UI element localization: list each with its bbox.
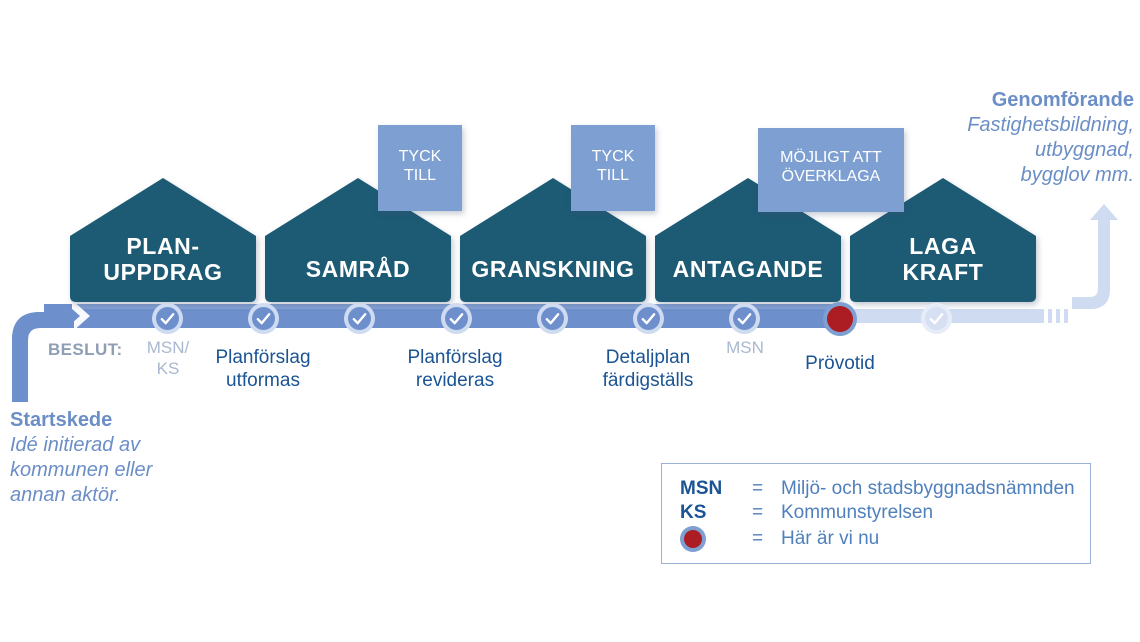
timeline-node-check-7[interactable]: [729, 303, 760, 334]
speech-bubble-tyck-till-samrad[interactable]: TYCK TILL: [378, 125, 462, 211]
stage-label-line1: SAMRÅD: [306, 256, 411, 282]
genomforande-line2: utbyggnad,: [967, 138, 1134, 163]
bubble-line2: TILL: [597, 167, 629, 184]
legend-box: MSN = Miljö- och stadsbyggnadsnämnden KS…: [661, 463, 1091, 564]
bubble-line2: ÖVERKLAGA: [782, 168, 881, 185]
timeline-dash: [1064, 309, 1068, 323]
caption-line1: Planförslag: [180, 346, 346, 369]
startskede-title: Startskede: [10, 408, 152, 433]
stage-label-line1: PLAN-: [103, 233, 222, 259]
caption-provotid: Prövotid: [766, 352, 914, 375]
stage-label-line2: UPPDRAG: [103, 259, 222, 285]
stage-label-line1: GRANSKNING: [471, 256, 634, 282]
legend-row-current-position: = Här är vi nu: [680, 525, 1075, 553]
caption-line1: Planförslag: [372, 346, 538, 369]
genomforande-blurb: Genomförande Fastighetsbildning, utbyggn…: [967, 88, 1134, 188]
legend-value-msn: Miljö- och stadsbyggnadsnämnden: [781, 477, 1075, 501]
timeline-node-current-position[interactable]: [823, 302, 857, 336]
check-icon: [736, 310, 753, 327]
check-icon: [640, 310, 657, 327]
caption-line1: Prövotid: [766, 352, 914, 375]
legend-key-ks: KS: [680, 501, 752, 525]
process-diagram: PLAN- UPPDRAG SAMRÅD GRANSKNING ANTAGAND…: [0, 0, 1140, 642]
startskede-line1: Idé initierad av: [10, 433, 152, 458]
legend-eq: =: [752, 477, 781, 501]
legend-key-dot: [680, 525, 752, 553]
bubble-line1: TYCK: [399, 148, 442, 165]
legend-eq: =: [752, 501, 781, 525]
timeline-node-check-6[interactable]: [633, 303, 664, 334]
stage-house-planuppdrag[interactable]: PLAN- UPPDRAG: [70, 178, 256, 302]
current-position-dot-icon: [680, 526, 706, 552]
timeline-end-curve: [1072, 204, 1118, 309]
timeline-node-check-2[interactable]: [248, 303, 279, 334]
check-icon: [544, 310, 561, 327]
bubble-line2: TILL: [404, 167, 436, 184]
legend-row-msn: MSN = Miljö- och stadsbyggnadsnämnden: [680, 477, 1075, 501]
startskede-line3: annan aktör.: [10, 483, 152, 508]
startskede-blurb: Startskede Idé initierad av kommunen ell…: [10, 408, 152, 508]
legend-key-msn: MSN: [680, 477, 752, 501]
timeline-node-check-4[interactable]: [441, 303, 472, 334]
legend-eq: =: [752, 525, 781, 553]
check-icon: [255, 310, 272, 327]
node-core-red: [827, 306, 853, 332]
timeline-node-check-5[interactable]: [537, 303, 568, 334]
legend-value-ks: Kommunstyrelsen: [781, 501, 1075, 525]
caption-planforslag-revideras: Planförslag revideras: [372, 346, 538, 392]
check-icon: [448, 310, 465, 327]
timeline-end-curve-fill: [1072, 220, 1110, 309]
genomforande-title: Genomförande: [967, 88, 1134, 113]
startskede-line2: kommunen eller: [10, 458, 152, 483]
stage-label-line2: KRAFT: [903, 259, 984, 285]
timeline-node-check-8[interactable]: [921, 303, 952, 334]
caption-line2: färdigställs: [565, 369, 731, 392]
bubble-line1: TYCK: [592, 148, 635, 165]
caption-line2: utformas: [180, 369, 346, 392]
timeline-dash: [1048, 309, 1052, 323]
genomforande-line3: bygglov mm.: [967, 163, 1134, 188]
caption-planforslag-utformas: Planförslag utformas: [180, 346, 346, 392]
stage-label-line1: LAGA: [903, 233, 984, 259]
stage-label-line1: ANTAGANDE: [673, 256, 824, 282]
speech-bubble-tyck-till-granskning[interactable]: TYCK TILL: [571, 125, 655, 211]
timeline-node-check-3[interactable]: [344, 303, 375, 334]
check-icon: [351, 310, 368, 327]
genomforande-line1: Fastighetsbildning,: [967, 113, 1134, 138]
check-icon: [928, 310, 945, 327]
timeline-node-check-1[interactable]: [152, 303, 183, 334]
speech-bubble-mojligt-att-overklaga[interactable]: MÖJLIGT ATT ÖVERKLAGA: [758, 128, 904, 212]
legend-value-current-position: Här är vi nu: [781, 525, 1075, 553]
timeline-dash: [1056, 309, 1060, 323]
bubble-line1: MÖJLIGT ATT: [780, 149, 882, 166]
legend-row-ks: KS = Kommunstyrelsen: [680, 501, 1075, 525]
caption-line2: revideras: [372, 369, 538, 392]
check-icon: [159, 310, 176, 327]
